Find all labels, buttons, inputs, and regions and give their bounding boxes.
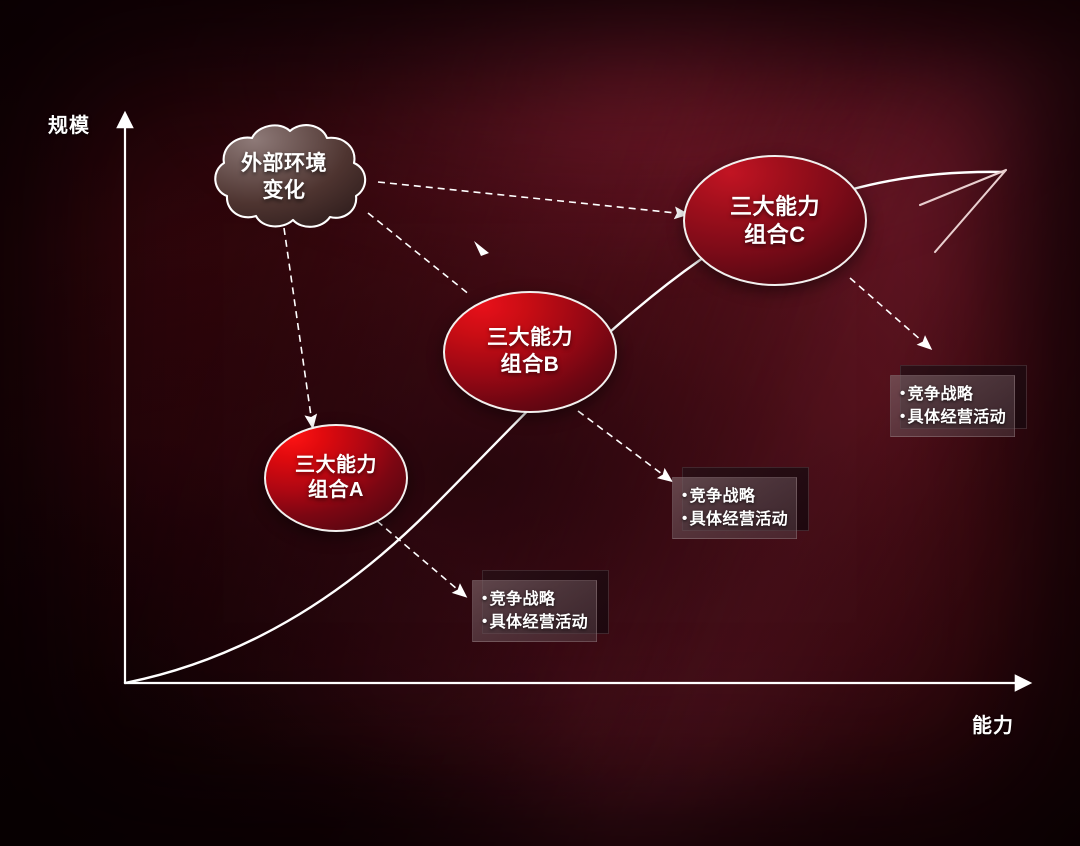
cloud-shape[interactable] [188,122,380,234]
bullet-icon: • [682,485,688,507]
node-b-line2: 组合B [501,352,560,379]
connector-cloud-to-b-arrowhead [474,241,489,256]
cloud-outline [215,125,365,227]
note-box-c-line1-text: 竞争战略 [908,386,974,403]
note-box-a-line1: •竞争战略 [482,588,586,611]
node-capability-combo-b[interactable]: 三大能力 组合B [443,291,617,413]
note-box-a-line2-text: 具体经营活动 [490,614,588,631]
note-box-c-line2: •具体经营活动 [900,406,1004,429]
note-box-a-line1-text: 竞争战略 [490,591,556,608]
connector-c-to-note [850,278,922,341]
connector-b-to-note [578,411,662,474]
bullet-icon: • [900,406,906,428]
note-box-c-line2-text: 具体经营活动 [908,409,1006,426]
node-c-line2: 组合C [744,221,805,249]
bullet-icon: • [482,611,488,633]
note-box-b-line1: •竞争战略 [682,485,786,508]
connector-a-to-note [377,521,457,589]
growth-curve-arrowhead [920,170,1006,252]
note-box-c[interactable]: •竞争战略 •具体经营活动 [890,365,1015,427]
node-a-line2: 组合A [308,478,364,503]
note-box-c-face: •竞争战略 •具体经营活动 [890,375,1015,437]
connector-cloud-to-b [368,213,470,295]
note-box-a[interactable]: •竞争战略 •具体经营活动 [472,570,597,632]
node-c-line1: 三大能力 [730,193,820,221]
node-capability-combo-a[interactable]: 三大能力 组合A [264,424,408,532]
bullet-icon: • [682,508,688,530]
note-box-a-line2: •具体经营活动 [482,611,586,634]
diagram-canvas: 规模 能力 外部环境 变化 三大能力 组合A 三大能力 组合B 三大能力 组合C [0,0,1080,846]
bullet-icon: • [900,383,906,405]
node-a-line1: 三大能力 [295,453,377,478]
x-axis-label: 能力 [972,709,1014,738]
note-box-b-line1-text: 竞争战略 [690,488,756,505]
note-box-c-line1: •竞争战略 [900,383,1004,406]
connector-cloud-to-c [378,182,676,213]
note-box-a-face: •竞争战略 •具体经营活动 [472,580,597,642]
node-capability-combo-c[interactable]: 三大能力 组合C [683,155,867,286]
node-b-line1: 三大能力 [487,325,573,352]
y-axis-label: 规模 [48,109,90,138]
note-box-b-line2-text: 具体经营活动 [690,511,788,528]
note-box-b-line2: •具体经营活动 [682,508,786,531]
connector-cloud-to-a [284,228,311,416]
bullet-icon: • [482,588,488,610]
note-box-b-face: •竞争战略 •具体经营活动 [672,477,797,539]
note-box-b[interactable]: •竞争战略 •具体经营活动 [672,467,797,529]
